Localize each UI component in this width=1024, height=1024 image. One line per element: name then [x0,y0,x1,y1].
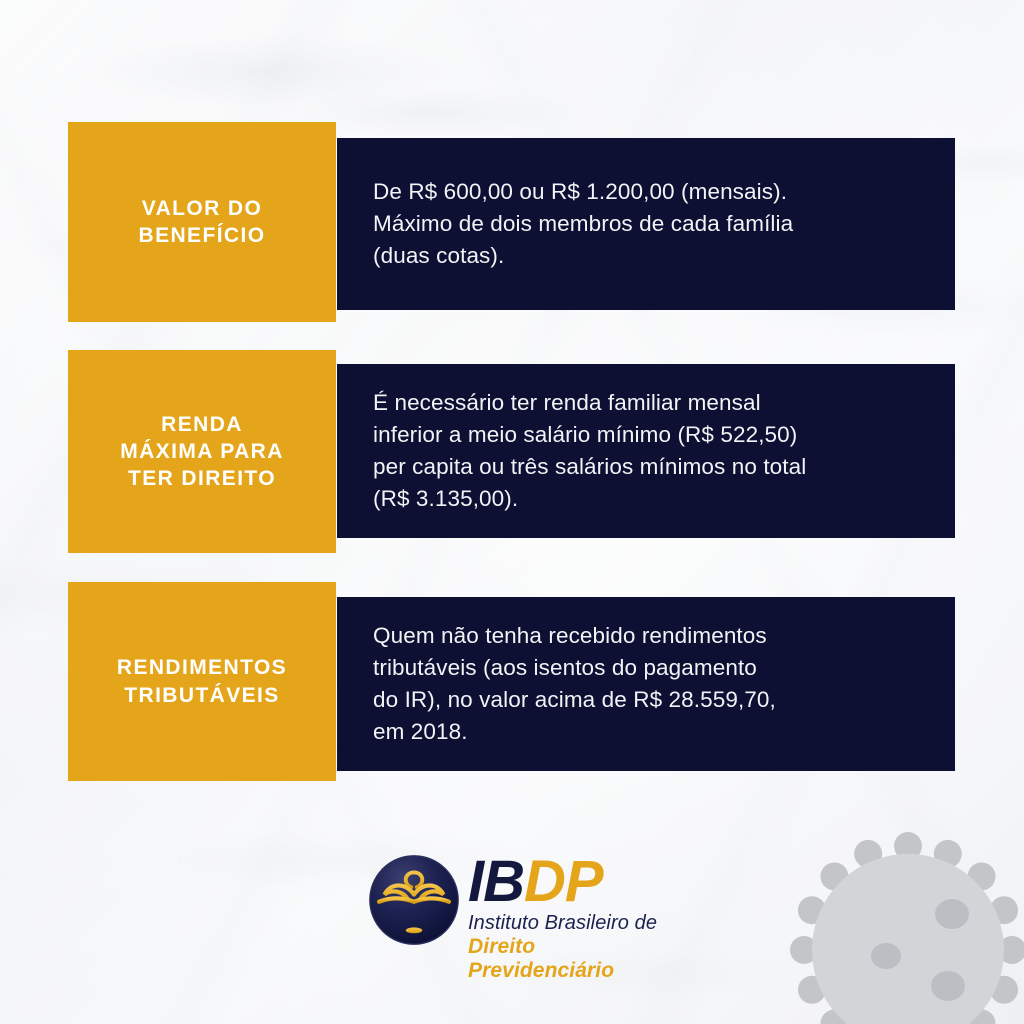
info-row-1-body-box: De R$ 600,00 ou R$ 1.200,00 (mensais). M… [337,138,955,310]
ibdp-wordmark: IBDP [468,854,668,909]
info-row-1-label-text: VALOR DO BENEFÍCIO [139,195,266,250]
info-row-3-body-text: Quem não tenha recebido rendimentos trib… [337,620,794,748]
info-row-3-label-text: RENDIMENTOS TRIBUTÁVEIS [117,654,287,709]
ibdp-wordmark-ib: IB [468,849,524,914]
info-row-1-label-box: VALOR DO BENEFÍCIO [68,122,336,322]
ibdp-logo-text: IBDP Instituto Brasileiro de Direito Pre… [468,852,668,983]
ibdp-tagline-line1: Instituto Brasileiro de [468,912,668,935]
info-row-2-label-box: RENDA MÁXIMA PARA TER DIREITO [68,350,336,553]
info-row-3-body-box: Quem não tenha recebido rendimentos trib… [337,597,955,771]
info-row-1-body-text: De R$ 600,00 ou R$ 1.200,00 (mensais). M… [337,176,811,272]
info-row-2-label-text: RENDA MÁXIMA PARA TER DIREITO [120,411,284,493]
info-row-3-label-box: RENDIMENTOS TRIBUTÁVEIS [68,582,336,781]
ibdp-wordmark-dp: DP [524,849,603,914]
ibdp-emblem-icon [368,854,460,946]
ibdp-logo: IBDP Instituto Brasileiro de Direito Pre… [368,852,668,976]
poster-canvas: De R$ 600,00 ou R$ 1.200,00 (mensais). M… [0,0,1024,1024]
info-row-2-body-text: É necessário ter renda familiar mensal i… [337,387,824,515]
ibdp-tagline-line2: Direito Previdenciário [468,935,668,983]
info-row-2-body-box: É necessário ter renda familiar mensal i… [337,364,955,538]
